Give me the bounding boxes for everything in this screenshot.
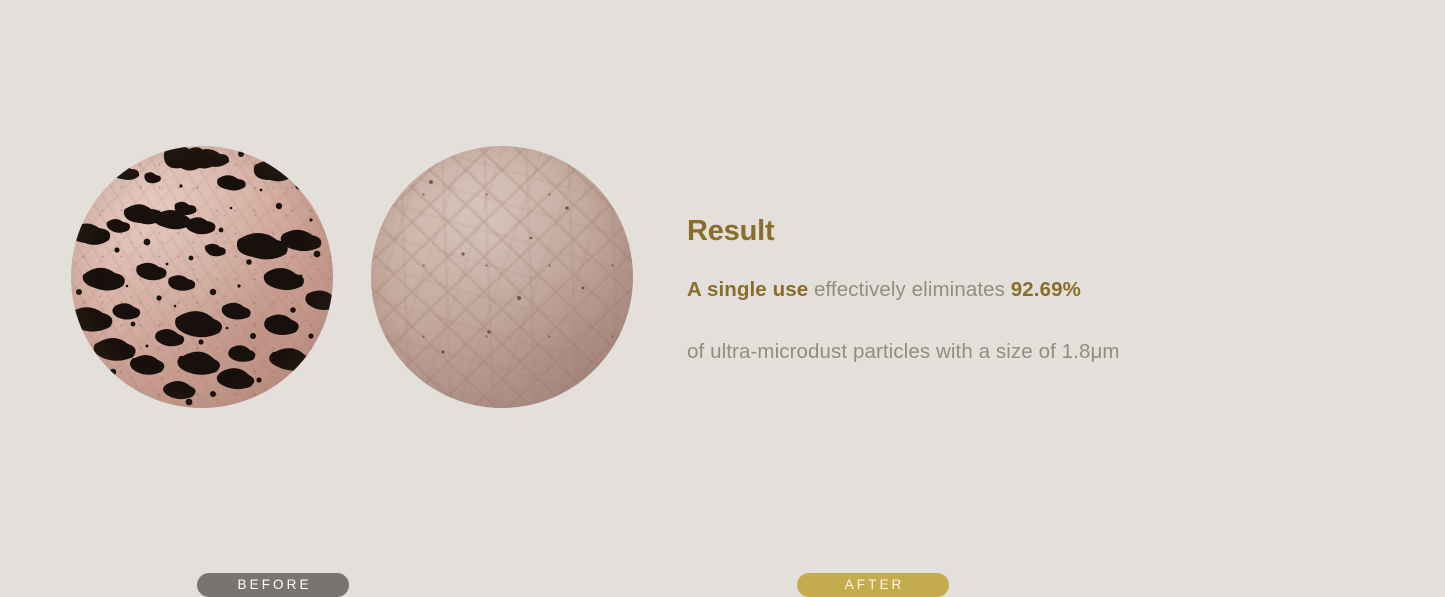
badge-before: BEFORE [197,573,349,597]
result-statement-line-2: of ultra-microdust particles with a size… [687,332,1347,372]
microdust-particles-overlay [71,146,333,408]
result-elimination-value: 92.69% [1011,278,1081,301]
after-skin-image [371,146,633,408]
badge-after: AFTER [797,573,949,597]
result-statement-line-1: A single use effectively eliminates 92.6… [687,270,1347,310]
result-particle-size-text: of ultra-microdust particles with a size… [687,340,1120,363]
result-lead-text: A single use [687,278,808,301]
before-specimen: BEFORE [71,146,333,408]
before-after-comparison: BEFORE A [0,0,660,592]
result-comparison-page: { "page": { "background_color": "#e3e0dc… [0,0,1445,592]
before-skin-image [71,146,333,408]
residual-microdust-overlay [371,146,633,408]
result-title: Result [687,216,1347,248]
result-panel: Result A single use effectively eliminat… [687,216,1347,372]
after-specimen: AFTER [371,146,633,408]
result-middle-text: effectively eliminates [808,278,1011,301]
